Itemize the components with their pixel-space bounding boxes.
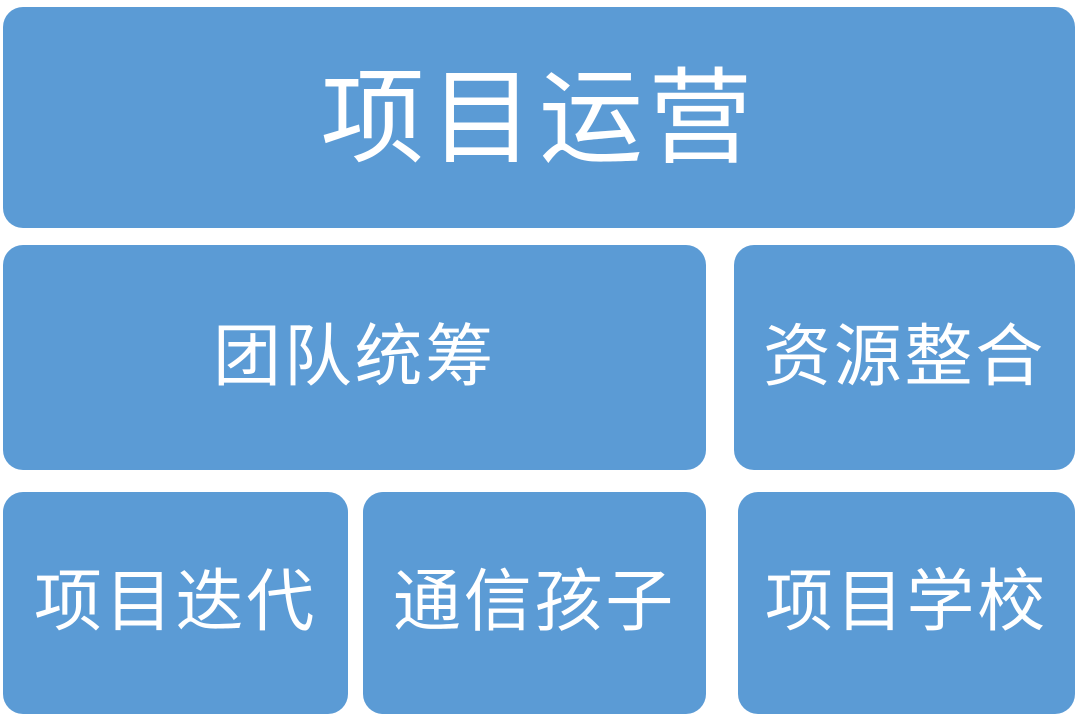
node-level3-label-3: 项目学校 xyxy=(765,569,1048,637)
node-root-label: 项目运营 xyxy=(321,66,758,170)
diagram-canvas: 项目运营 团队统筹 资源整合 项目迭代 通信孩子 项目学校 xyxy=(0,0,1080,720)
node-level2-resource-integration[interactable]: 资源整合 xyxy=(734,245,1075,470)
node-level2-team-coordination[interactable]: 团队统筹 xyxy=(3,245,706,470)
node-level3-label-2: 通信孩子 xyxy=(393,569,676,637)
node-level3-label-1: 项目迭代 xyxy=(34,569,317,637)
node-level2-label-2: 资源整合 xyxy=(763,324,1046,392)
node-level3-project-school[interactable]: 项目学校 xyxy=(738,492,1075,714)
node-level3-project-iteration[interactable]: 项目迭代 xyxy=(3,492,348,714)
node-level2-label-1: 团队统筹 xyxy=(213,324,496,392)
node-root-project-operations[interactable]: 项目运营 xyxy=(3,7,1075,228)
node-level3-communication-child[interactable]: 通信孩子 xyxy=(363,492,706,714)
